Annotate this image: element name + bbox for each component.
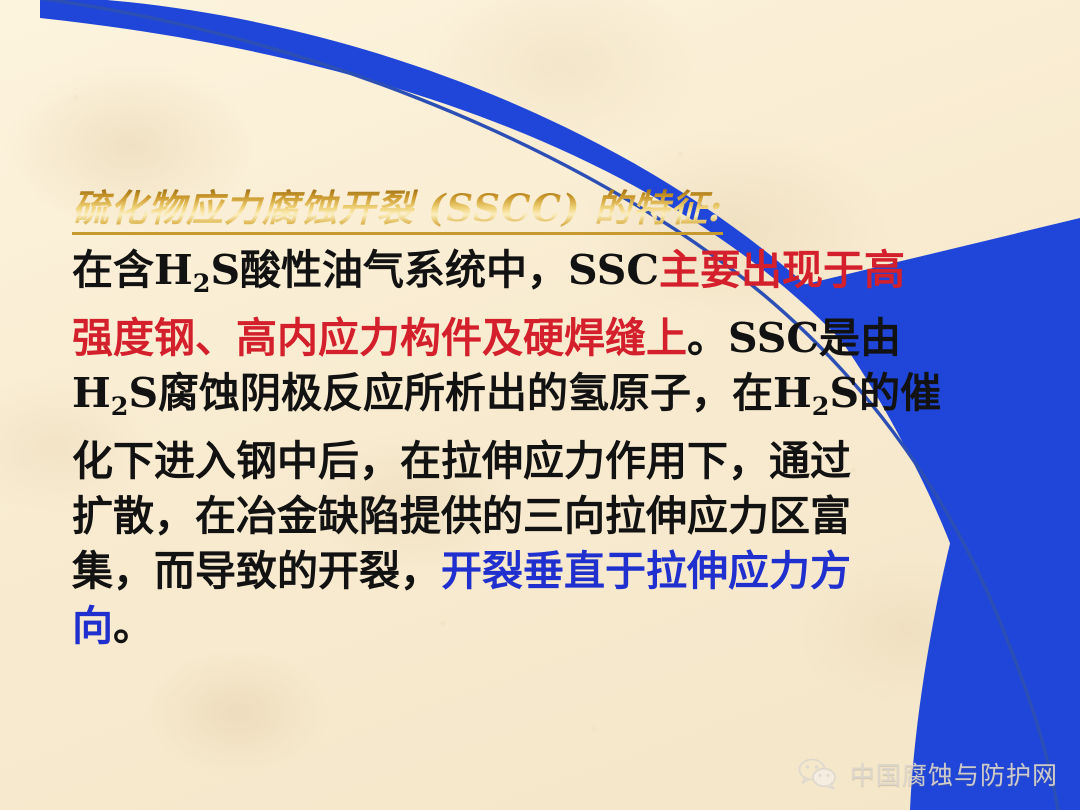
text-segment-black: 扩散，在冶金缺陷提供的三向拉伸应力区富 [72, 492, 851, 540]
text-line-4: 化下进入钢中后，在拉伸应力作用下，通过 [72, 434, 1032, 489]
text-segment-black: 在含 [72, 246, 154, 294]
text-segment-black: 。 [113, 602, 154, 650]
watermark-label: 中国腐蚀与防护网 [850, 756, 1058, 792]
body-paragraph: 在含H2S酸性油气系统中，SSC主要出现于高 强度钢、高内应力构件及硬焊缝上。S… [72, 243, 1032, 654]
text-segment-black: S [210, 246, 240, 294]
text-segment-black: 的催 [859, 369, 941, 417]
text-segment-blue: 开裂垂直于拉伸应力方 [441, 547, 851, 595]
text-segment-black: SSC [728, 314, 819, 362]
text-segment-black: 2 [812, 391, 830, 421]
text-segment-black: H [72, 369, 111, 417]
text-line-7: 向。 [72, 599, 1032, 654]
text-segment-black: S [128, 369, 158, 417]
text-segment-black: 酸性油气系统中， [240, 246, 568, 294]
text-segment-black: 是由 [819, 314, 901, 362]
text-line-2: 强度钢、高内应力构件及硬焊缝上。SSC是由 [72, 311, 1032, 366]
slide-canvas: 硫化物应力腐蚀开裂 (SSCC) 的特征: 在含H2S酸性油气系统中，SSC主要… [0, 0, 1080, 810]
slide-content: 硫化物应力腐蚀开裂 (SSCC) 的特征: 在含H2S酸性油气系统中，SSC主要… [72, 186, 1032, 654]
text-segment-black: 集，而导致的开裂， [72, 547, 441, 595]
text-segment-black: H [773, 369, 812, 417]
text-segment-red: 强度钢、高内应力构件及硬焊缝上 [72, 314, 687, 362]
text-line-1: 在含H2S酸性油气系统中，SSC主要出现于高 [72, 243, 1032, 311]
text-segment-red: 主要出现于高 [659, 246, 905, 294]
text-segment-black: SSC [568, 246, 659, 294]
text-segment-black: S [829, 369, 859, 417]
page-title: 硫化物应力腐蚀开裂 (SSCC) 的特征: [72, 186, 723, 235]
text-segment-black: 2 [111, 391, 129, 421]
text-line-3: H2S腐蚀阴极反应所析出的氢原子，在H2S的催 [72, 366, 1032, 434]
watermark: 中国腐蚀与防护网 [796, 756, 1058, 792]
text-segment-black: 。 [687, 314, 728, 362]
text-segment-black: 2 [193, 268, 211, 298]
text-segment-black: 腐蚀阴极反应所析出的氢原子，在 [158, 369, 773, 417]
text-segment-black: 化下进入钢中后，在拉伸应力作用下， [72, 437, 769, 485]
wechat-icon [796, 757, 840, 791]
text-line-6: 集，而导致的开裂，开裂垂直于拉伸应力方 [72, 544, 1032, 599]
text-segment-blue: 向 [72, 602, 113, 650]
text-segment-black: H [154, 246, 193, 294]
text-segment-black: 通过 [769, 437, 851, 485]
text-line-5: 扩散，在冶金缺陷提供的三向拉伸应力区富 [72, 489, 1032, 544]
